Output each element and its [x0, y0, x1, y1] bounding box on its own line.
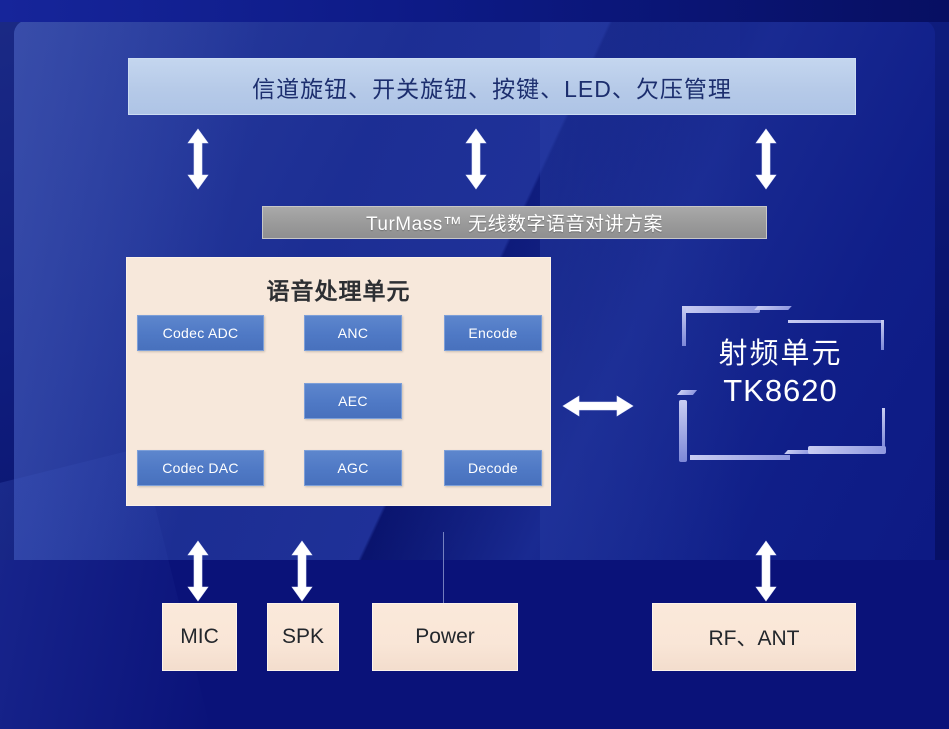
bracket-top-left-horizontal [682, 306, 760, 313]
voice-processing-unit-panel: 语音处理单元 Codec ADC ANC Encode AEC Codec DA… [126, 257, 551, 506]
bracket-bottom-right-vertical [882, 408, 885, 448]
connector-line-power [443, 532, 444, 604]
arrow-bottom-spk [288, 540, 316, 607]
bracket-bottom-horizontal [690, 455, 790, 460]
arrow-top-left [184, 128, 212, 195]
peripheral-box-power: Power [372, 603, 518, 671]
block-agc: AGC [304, 450, 402, 486]
arrow-top-right [752, 128, 780, 195]
voice-processing-unit-title: 语音处理单元 [127, 272, 550, 306]
top-interface-bar: 信道旋钮、开关旋钮、按键、LED、欠压管理 [128, 58, 856, 115]
rf-unit-text: 射频单元 TK8620 [668, 336, 893, 411]
block-aec: AEC [304, 383, 402, 419]
solution-name-bar: TurMass™ 无线数字语音对讲方案 [262, 206, 767, 239]
block-codec-adc: Codec ADC [137, 315, 264, 351]
peripheral-box-rf-ant: RF、ANT [652, 603, 856, 671]
rf-unit-part-number: TK8620 [668, 372, 893, 411]
arrow-voice-to-rf [562, 391, 634, 426]
block-codec-dac: Codec DAC [137, 450, 264, 486]
bracket-top-right-horizontal [788, 320, 884, 323]
arrow-top-middle [462, 128, 490, 195]
arrow-bottom-rf [752, 540, 780, 607]
rf-unit-name: 射频单元 [668, 336, 893, 372]
arrow-bottom-mic [184, 540, 212, 607]
bracket-top-left-diagonal [754, 306, 792, 310]
block-decode: Decode [444, 450, 542, 486]
block-anc: ANC [304, 315, 402, 351]
rf-unit-group: 射频单元 TK8620 [668, 300, 893, 472]
peripheral-box-mic: MIC [162, 603, 237, 671]
block-encode: Encode [444, 315, 542, 351]
bracket-bottom-right-horizontal [808, 446, 886, 454]
background-top-edge [0, 0, 949, 22]
diagram-canvas: 信道旋钮、开关旋钮、按键、LED、欠压管理 TurMass™ 无线数字语音对讲方… [0, 0, 949, 729]
peripheral-box-spk: SPK [267, 603, 339, 671]
